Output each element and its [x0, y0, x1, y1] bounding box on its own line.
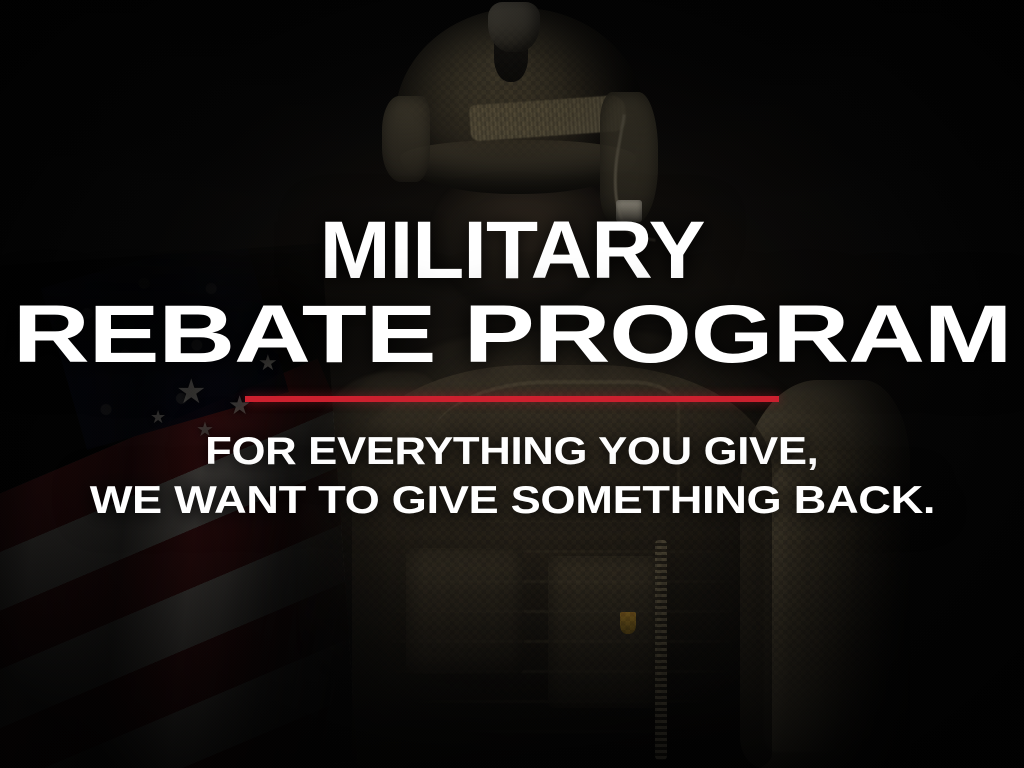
headline-line-1: MILITARY [320, 212, 705, 290]
red-divider-rule [245, 396, 779, 402]
subtitle-line-1: FOR EVERYTHING YOU GIVE, [205, 432, 818, 472]
headline-line-2: REBATE PROGRAM [13, 296, 1011, 374]
military-rebate-banner: ★★★★★ MILITARY REBATE PROGRAM FOR EVERYT… [0, 0, 1024, 768]
text-overlay: MILITARY REBATE PROGRAM FOR EVERYTHING Y… [0, 0, 1024, 768]
subtitle-line-2: WE WANT TO GIVE SOMETHING BACK. [89, 481, 934, 521]
